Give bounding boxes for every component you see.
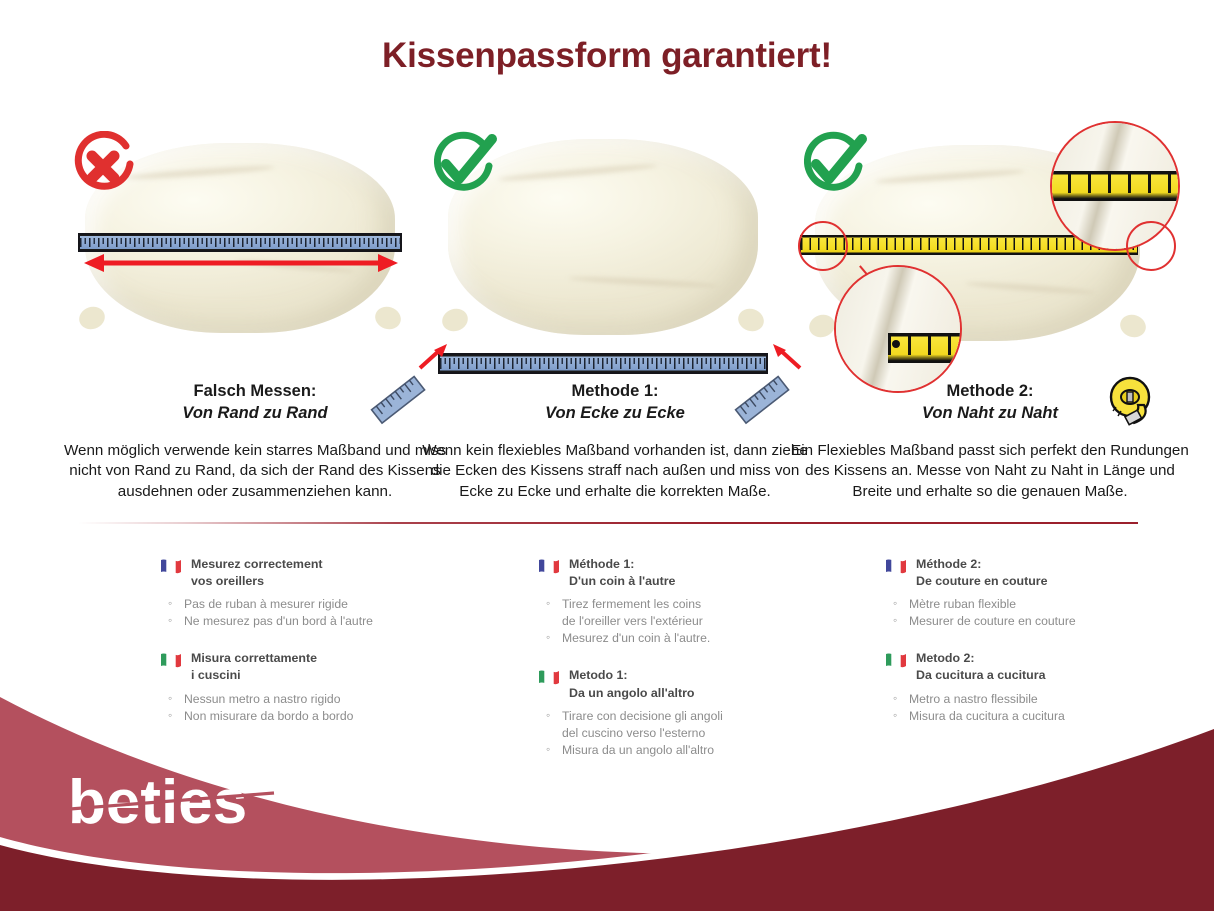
column-body-text: Wenn möglich verwende kein starres Maßba… xyxy=(60,441,450,503)
measure-arrow-edge-to-edge xyxy=(82,251,400,275)
callout-ring-right xyxy=(1126,221,1176,271)
lang-title: Méthode 2: De couture en couture xyxy=(916,556,1048,590)
callout-ring-left xyxy=(798,221,848,271)
lang-title-line2: vos oreillers xyxy=(191,574,264,588)
lang-bullet-list: Pas de ruban à mesurer rigide Ne mesurez… xyxy=(166,596,410,630)
illustration-falsch-messen xyxy=(60,125,450,375)
rigid-ruler-edge-to-edge xyxy=(78,233,402,252)
column-methode-1: Methode 1: Von Ecke zu Ecke Wenn kein fl… xyxy=(420,125,810,503)
lang-title-line1: Méthode 2: xyxy=(916,557,981,571)
lang-title: Méthode 1: D'un coin à l'autre xyxy=(569,556,675,590)
lang-bullet-list: Tirez fermement les coins de l'oreiller … xyxy=(544,596,788,647)
list-item: Pas de ruban à mesurer rigide xyxy=(166,596,410,613)
lang-group-fr: Méthode 1: D'un coin à l'autre Tirez fer… xyxy=(538,556,788,647)
page-title: Kissenpassform garantiert! xyxy=(0,36,1214,76)
lang-title: Mesurez correctement vos oreillers xyxy=(191,556,323,590)
lang-group-fr: Méthode 2: De couture en couture Mètre r… xyxy=(885,556,1140,630)
section-divider xyxy=(78,522,1138,524)
lang-title-line1: Méthode 1: xyxy=(569,557,634,571)
flag-france-icon xyxy=(160,558,182,575)
column-body-text: Ein Flexiebles Maßband passt sich perfek… xyxy=(790,441,1190,503)
corner-arrow-right xyxy=(770,341,804,371)
lang-title-line2: De couture en couture xyxy=(916,574,1048,588)
list-item: Tirez fermement les coins de l'oreiller … xyxy=(544,596,788,630)
heading-block-methode-1: Methode 1: Von Ecke zu Ecke xyxy=(420,381,810,425)
callout-zoom-seam-bottom xyxy=(834,265,962,393)
lang-title-line2: D'un coin à l'autre xyxy=(569,574,675,588)
illustration-methode-2 xyxy=(790,125,1190,375)
flag-france-icon xyxy=(885,558,907,575)
list-item: Mètre ruban flexible xyxy=(891,596,1140,613)
list-item: Ne mesurez pas d'un bord à l'autre xyxy=(166,613,410,630)
check-badge xyxy=(426,129,500,203)
lang-title-line1: Mesurez correctement xyxy=(191,557,323,571)
yellow-tape-icon xyxy=(1100,375,1162,429)
corner-arrow-left xyxy=(416,341,450,371)
list-item: Mesurer de couture en couture xyxy=(891,613,1140,630)
column-falsch-messen: Falsch Messen: Von Rand zu Rand Wenn mög… xyxy=(60,125,450,503)
list-item: Mesurez d'un coin à l'autre. xyxy=(544,630,788,647)
lang-bullet-list: Mètre ruban flexible Mesurer de couture … xyxy=(891,596,1140,630)
brand-logo: beties xyxy=(68,769,278,839)
illustration-methode-1 xyxy=(420,125,810,375)
rigid-ruler-corner-to-corner xyxy=(438,353,768,374)
cross-badge xyxy=(66,131,140,205)
lang-group-fr: Mesurez correctement vos oreillers Pas d… xyxy=(160,556,410,630)
blue-ruler-icon xyxy=(734,375,792,427)
heading-block-falsch-messen: Falsch Messen: Von Rand zu Rand xyxy=(60,381,450,425)
flag-france-icon xyxy=(538,558,560,575)
column-methode-2: Methode 2: Von Naht zu Naht Ein Flexiebl… xyxy=(790,125,1190,503)
infographic-page: Kissenpassform garantiert! xyxy=(0,0,1214,911)
check-badge xyxy=(796,129,870,203)
column-body-text: Wenn kein flexiebles Maßband vorhanden i… xyxy=(420,441,810,503)
